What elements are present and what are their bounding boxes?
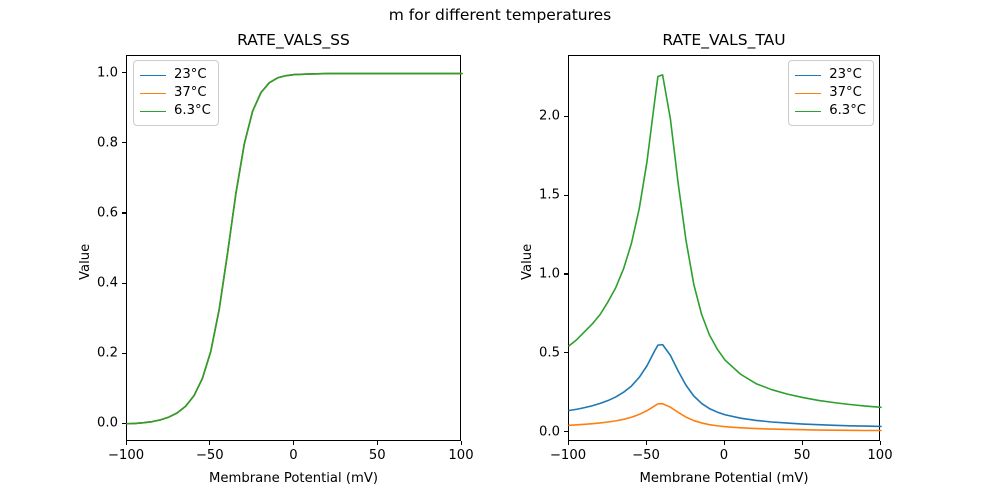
legend-swatch-line-icon — [795, 93, 821, 94]
legend-swatch-line-icon — [795, 75, 821, 76]
legend-entry-1[interactable]: 37°C — [140, 84, 211, 102]
series-line-1 — [127, 74, 462, 424]
legend-entry-0[interactable]: 23°C — [795, 66, 866, 84]
legend-entry-1[interactable]: 37°C — [795, 84, 866, 102]
ytick-mark — [122, 283, 126, 284]
xtick-mark — [377, 441, 378, 445]
ytick-label: 0.0 — [80, 416, 118, 431]
legend-label: 6.3°C — [174, 104, 211, 117]
series-line-0 — [569, 345, 881, 427]
series-line-1 — [569, 404, 881, 431]
ytick-mark — [122, 212, 126, 213]
legend-entry-2[interactable]: 6.3°C — [795, 102, 866, 120]
ytick-mark — [564, 352, 568, 353]
ytick-label: 1.0 — [522, 266, 560, 281]
ytick-label: 2.0 — [522, 109, 560, 124]
series-line-2 — [127, 74, 462, 424]
legend-label: 37°C — [174, 86, 207, 99]
ytick-label: 1.0 — [80, 65, 118, 80]
legend-label: 6.3°C — [829, 104, 866, 117]
xaxis-label-right: Membrane Potential (mV) — [569, 471, 879, 486]
xaxis-label-left: Membrane Potential (mV) — [127, 471, 460, 486]
xtick-mark — [126, 441, 127, 445]
xtick-mark — [880, 441, 881, 445]
matplotlib-figure: m for different temperatures RATE_VALS_S… — [0, 0, 1000, 500]
ytick-label: 0.2 — [80, 346, 118, 361]
xtick-label: −50 — [196, 448, 224, 463]
legend-swatch-line-icon — [140, 93, 166, 94]
subplot-title-right: RATE_VALS_TAU — [569, 31, 879, 49]
subplot-title-left: RATE_VALS_SS — [127, 31, 460, 49]
xtick-label: 100 — [867, 448, 892, 463]
ytick-mark — [564, 273, 568, 274]
xtick-label: 50 — [794, 448, 811, 463]
ytick-mark — [564, 431, 568, 432]
xtick-label: 0 — [289, 448, 297, 463]
xtick-label: 50 — [369, 448, 386, 463]
xtick-mark — [568, 441, 569, 445]
legend-swatch-line-icon — [795, 111, 821, 112]
ytick-label: 0.8 — [80, 135, 118, 150]
legend-left[interactable]: 23°C37°C6.3°C — [133, 60, 219, 126]
ytick-label: 0.5 — [522, 345, 560, 360]
ytick-mark — [122, 353, 126, 354]
xtick-mark — [461, 441, 462, 445]
series-line-0 — [127, 74, 462, 424]
legend-label: 37°C — [829, 86, 862, 99]
ytick-label: 0.6 — [80, 205, 118, 220]
ytick-mark — [122, 72, 126, 73]
figure-suptitle: m for different temperatures — [0, 6, 1000, 24]
xtick-mark — [724, 441, 725, 445]
xtick-label: −50 — [632, 448, 660, 463]
legend-entry-0[interactable]: 23°C — [140, 66, 211, 84]
ytick-label: 0.4 — [80, 276, 118, 291]
xtick-label: −100 — [550, 448, 586, 463]
legend-swatch-line-icon — [140, 75, 166, 76]
legend-entry-2[interactable]: 6.3°C — [140, 102, 211, 120]
xtick-label: −100 — [108, 448, 144, 463]
ytick-mark — [564, 116, 568, 117]
legend-label: 23°C — [829, 68, 862, 81]
legend-swatch-line-icon — [140, 111, 166, 112]
xtick-label: 100 — [448, 448, 473, 463]
ytick-label: 0.0 — [522, 424, 560, 439]
xtick-mark — [293, 441, 294, 445]
xtick-mark — [209, 441, 210, 445]
yaxis-label-left: Value — [78, 244, 93, 280]
ytick-mark — [122, 423, 126, 424]
ytick-mark — [122, 142, 126, 143]
xtick-label: 0 — [720, 448, 728, 463]
xtick-mark — [802, 441, 803, 445]
ytick-label: 1.5 — [522, 188, 560, 203]
ytick-mark — [564, 195, 568, 196]
xtick-mark — [646, 441, 647, 445]
legend-label: 23°C — [174, 68, 207, 81]
legend-right[interactable]: 23°C37°C6.3°C — [788, 60, 874, 126]
